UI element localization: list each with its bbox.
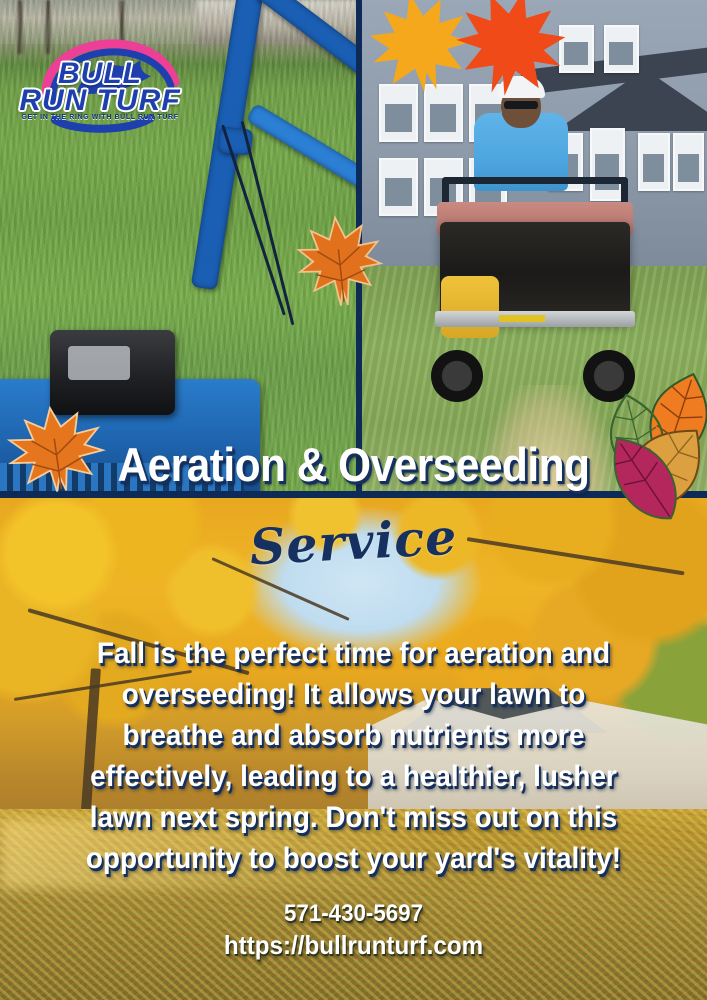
house-window: [604, 25, 639, 73]
logo-tagline: GET IN THE RING WITH BULL RUN TURF: [17, 114, 183, 121]
house-window: [673, 133, 705, 191]
aerator-tire: [431, 350, 483, 402]
website-url[interactable]: https://bullrunturf.com: [25, 929, 683, 962]
horizontal-divider: [0, 491, 707, 498]
brand-logo[interactable]: BULL RUN TURF GET IN THE RING WITH BULL …: [17, 36, 183, 134]
house-window: [638, 133, 670, 191]
flyer-canvas: BULL RUN TURF GET IN THE RING WITH BULL …: [0, 0, 707, 1000]
aerator-rear-plate: [435, 311, 635, 327]
house-window: [379, 158, 418, 216]
contact-block: 571-430-5697 https://bullrunturf.com: [25, 898, 683, 962]
body-paragraph: Fall is the perfect time for aeration an…: [68, 633, 640, 879]
house-door: [590, 128, 625, 201]
logo-wordmark: BULL RUN TURF: [17, 60, 183, 114]
phone-number[interactable]: 571-430-5697: [25, 898, 683, 929]
page-title: Aeration & Overseeding: [35, 437, 671, 492]
house-gable: [555, 69, 707, 131]
aerator-brush-wheel: [441, 276, 499, 338]
aerator-handlebar: [442, 177, 628, 184]
logo-line-2: RUN TURF: [19, 84, 180, 117]
orange-maple-leaf-icon: [291, 210, 389, 319]
